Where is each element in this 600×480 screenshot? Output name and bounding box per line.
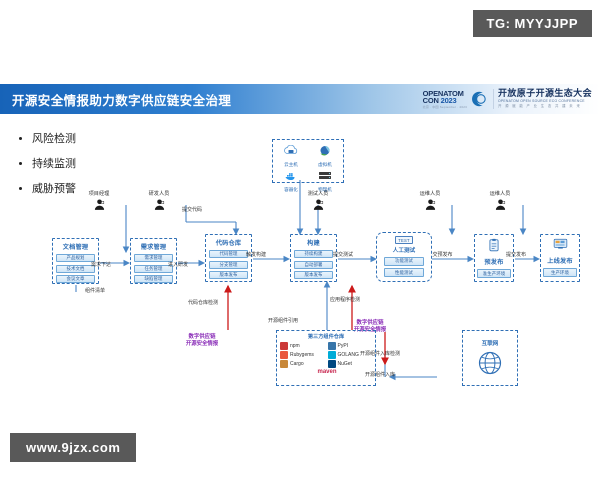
- repo-item-label: GOLANG: [338, 352, 359, 358]
- repo-title: 第三方组件仓库: [280, 333, 372, 340]
- intel-label-0: 数字供应链开源安全情报: [186, 334, 218, 349]
- stage-item[interactable]: 缺陷管理: [134, 275, 174, 283]
- person-avatar-icon: [93, 198, 106, 211]
- stage-title: 代码仓库: [216, 238, 242, 247]
- stage-item[interactable]: 自动部署: [294, 261, 334, 269]
- bullet-item-2: 威胁预警: [32, 180, 76, 196]
- monitor-icon: [553, 238, 568, 251]
- repo-item-pypi[interactable]: PyPI: [328, 342, 373, 350]
- role-label: 研发人员: [132, 190, 186, 197]
- virtual-machine-icon: [317, 145, 333, 156]
- bullet-item-1: 持续监测: [32, 155, 76, 171]
- flow-label-2: 进入研发: [168, 261, 188, 268]
- repo-item-label: maven: [317, 369, 336, 375]
- stage-code[interactable]: 代码仓库代码管理分支管理版本发布: [205, 234, 252, 282]
- stage-item[interactable]: 准生产环境: [477, 269, 511, 278]
- test-badge: TEST: [395, 236, 414, 244]
- infra-cell-cloud: 云主机: [275, 143, 307, 168]
- role-label: 测试人员: [291, 190, 345, 197]
- repo-item-grid: npmPyPIRubygemsGOLANGCargoNuGet: [280, 342, 372, 368]
- person-avatar-icon: [424, 198, 437, 211]
- role-label: 运维人员: [403, 190, 457, 197]
- stage-item[interactable]: 版本发布: [294, 271, 334, 279]
- manual-test-item[interactable]: 功能测试: [384, 257, 424, 266]
- stage-title: 预发布: [484, 257, 503, 266]
- repo-item-label: PyPI: [338, 343, 349, 349]
- infra-cell-vm: 虚拟机: [309, 143, 341, 168]
- stage-icon-wrap: [487, 238, 501, 257]
- bullet-list: 风险检测持续监测威胁预警: [16, 130, 76, 205]
- repo-item-nuget[interactable]: NuGet: [328, 360, 373, 368]
- stage-item[interactable]: 会议文章: [56, 275, 96, 283]
- flow-label-5: 提交测试: [333, 251, 353, 258]
- logo-sub: 北京 · 中国 September · 2023: [423, 106, 467, 109]
- role-4: 运维人员: [473, 190, 527, 216]
- stage-title: 上线发布: [547, 256, 573, 265]
- stage-item[interactable]: 代码管理: [209, 250, 249, 258]
- flow-label-6: 应用程序检测: [330, 296, 360, 303]
- repo-item-label: Cargo: [290, 361, 304, 367]
- role-label: 项目经理: [72, 190, 126, 197]
- person-avatar-icon: [153, 198, 166, 211]
- npm-icon: [280, 342, 288, 350]
- flow-label-10: 代码仓库检测: [188, 299, 218, 306]
- physical-server-icon: [317, 170, 333, 181]
- repo-item-label: NuGet: [338, 361, 352, 367]
- person-avatar-icon: [494, 198, 507, 211]
- stage-item[interactable]: 生产环境: [543, 268, 577, 277]
- repo-item-label: Rubygems: [290, 352, 314, 358]
- globe-icon: [475, 348, 505, 378]
- stage-title: 需求管理: [141, 242, 167, 251]
- role-3: 运维人员: [403, 190, 457, 216]
- flow-label-0: 需求下达: [91, 261, 111, 268]
- container-docker-icon: [283, 170, 299, 181]
- infrastructure-box: 云主机 虚拟机: [272, 139, 344, 183]
- stage-build[interactable]: 构建持续构建自动部署版本发布: [290, 234, 337, 282]
- role-1: 研发人员: [132, 190, 186, 216]
- pypi-icon: [328, 342, 336, 350]
- logo-cn-sub: 开 源 赋 能 产 业 生 态 共 建 未 来: [498, 105, 592, 109]
- bullet-item-0: 风险检测: [32, 130, 76, 146]
- conference-logo: OPENATOM CON 2023 北京 · 中国 September · 20…: [423, 85, 592, 113]
- logo-openatom-text: OPENATOM CON 2023 北京 · 中国 September · 20…: [423, 90, 467, 109]
- role-2: 测试人员: [291, 190, 345, 216]
- flow-label-9: 开源组件引用: [268, 317, 298, 324]
- logo-line2: CON 2023: [423, 97, 467, 105]
- stage-icon-wrap: [553, 238, 568, 256]
- stage-live[interactable]: 上线发布生产环境: [540, 234, 580, 282]
- watermark-top: TG: MYYJJPP: [473, 10, 592, 37]
- manual-test-box: TEST 人工测试 功能测试 性能测试: [376, 232, 432, 282]
- internet-box: 互联网: [462, 330, 518, 386]
- role-0: 项目经理: [72, 190, 126, 216]
- stage-title: 文档管理: [63, 242, 89, 251]
- repo-item-rubygems[interactable]: Rubygems: [280, 351, 325, 359]
- openatom-mark-icon: [471, 90, 489, 108]
- golang-icon: [328, 351, 336, 359]
- stage-title: 构建: [307, 238, 320, 247]
- repo-item-golang[interactable]: GOLANG: [328, 351, 373, 359]
- stage-item[interactable]: 分支管理: [209, 261, 249, 269]
- role-label: 运维人员: [473, 190, 527, 197]
- stage-item[interactable]: 产品规划: [56, 254, 96, 262]
- page-title: 开源安全情报助力数字供应链安全治理: [12, 90, 231, 109]
- person-avatar-icon: [312, 198, 325, 211]
- flow-label-4: 触发构建: [246, 251, 266, 258]
- repo-item-maven[interactable]: maven: [280, 369, 372, 375]
- flow-label-3: 提交代码: [182, 206, 202, 213]
- stage-item[interactable]: 版本发布: [209, 271, 249, 279]
- stage-item[interactable]: 技术文档: [56, 265, 96, 273]
- watermark-bottom: www.9jzx.com: [10, 433, 136, 462]
- flow-label-1: 组件清单: [85, 287, 105, 294]
- intel-line2: 开源安全情报: [186, 341, 218, 348]
- manual-test-title: 人工测试: [393, 246, 415, 254]
- rubygems-icon: [280, 351, 288, 359]
- logo-conference-text: 开放原子开源生态大会 OPENATOM OPEN SOURCE ECO CONF…: [493, 89, 592, 109]
- repo-item-cargo[interactable]: Cargo: [280, 360, 325, 368]
- cloud-icon: [283, 145, 299, 156]
- repo-item-npm[interactable]: npm: [280, 342, 325, 350]
- stage-item[interactable]: 持续构建: [294, 250, 334, 258]
- clipboard-icon: [487, 238, 501, 252]
- stage-pre[interactable]: 预发布准生产环境: [474, 234, 514, 282]
- flow-label-8: 提交发布: [506, 251, 526, 258]
- manual-test-item[interactable]: 性能测试: [384, 268, 424, 277]
- logo-cn-title: 开放原子开源生态大会: [498, 89, 592, 98]
- third-party-repo-box: 第三方组件仓库 npmPyPIRubygemsGOLANGCargoNuGet …: [276, 330, 376, 386]
- slide-root: TG: MYYJJPP www.9jzx.com 开源安全情报助力数字供应链安全…: [0, 0, 600, 480]
- nuget-icon: [328, 360, 336, 368]
- internet-title: 互联网: [482, 339, 499, 347]
- cargo-icon: [280, 360, 288, 368]
- repo-item-label: npm: [290, 343, 300, 349]
